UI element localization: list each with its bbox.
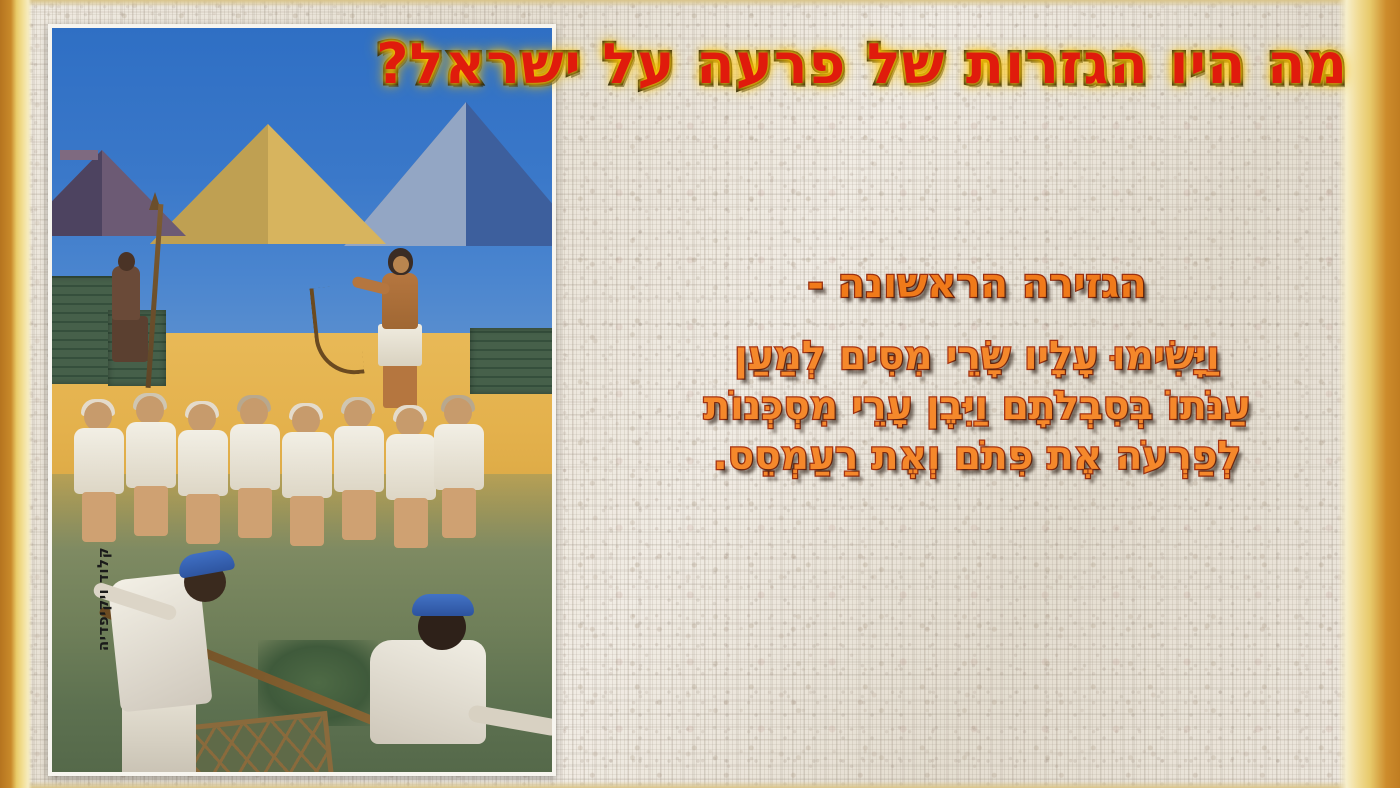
verse-line: וַיָּשִׂימוּ עָלָיו שָׂרֵי מִסִּים לְמַע…: [612, 332, 1342, 382]
slave-figure: [174, 404, 232, 542]
frame-left-border: [0, 0, 32, 788]
guard-legs: [112, 316, 148, 362]
text-column: הגזירה הראשונה - וַיָּשִׂימוּ עָלָיו שָׂ…: [612, 262, 1342, 482]
slave-figure: [330, 400, 388, 538]
worker-right-body: [370, 640, 486, 744]
frame-bottom-border: [0, 781, 1400, 788]
verse-line: לְפַרְעֹה אֶת פִּתֹם וְאֶת רַעַמְסֵס.: [612, 432, 1342, 482]
slave-figure: [70, 402, 128, 540]
illustration-photo: קלוד ויקיפדיה: [48, 24, 556, 776]
overseer-torso: [382, 273, 418, 329]
slave-figure: [122, 396, 180, 534]
verse-line: עַנֹּתוֹ בְּסִבְלֹתָם וַיִּבֶן עָרֵי מִס…: [612, 382, 1342, 432]
page-title: מה היו הגזרות של פרעה על ישראל?: [150, 36, 1348, 95]
slave-figure: [226, 398, 284, 536]
slave-figure: [278, 406, 336, 544]
worker-right-headband: [412, 594, 474, 616]
guard-body: [112, 266, 140, 320]
guard-head: [118, 252, 135, 271]
photo-credit-watermark: קלוד ויקיפדיה: [94, 524, 112, 674]
section-heading: הגזירה הראשונה -: [612, 262, 1342, 306]
pyramid-left-shadow-face: [48, 150, 102, 236]
frame-right-border: [1338, 0, 1400, 788]
slave-figure: [430, 398, 488, 536]
slide-root: קלוד ויקיפדיה מה היו הגזרות של פרעה על י…: [0, 0, 1400, 788]
brick-stack-right: [470, 328, 556, 394]
slave-crowd: [70, 396, 500, 546]
overseer-kilt: [378, 324, 422, 366]
overseer-face: [393, 256, 409, 273]
verse-text: וַיָּשִׂימוּ עָלָיו שָׂרֵי מִסִּים לְמַע…: [612, 332, 1342, 482]
pyramid-left-cap: [60, 150, 98, 160]
frame-top-border: [0, 0, 1400, 7]
